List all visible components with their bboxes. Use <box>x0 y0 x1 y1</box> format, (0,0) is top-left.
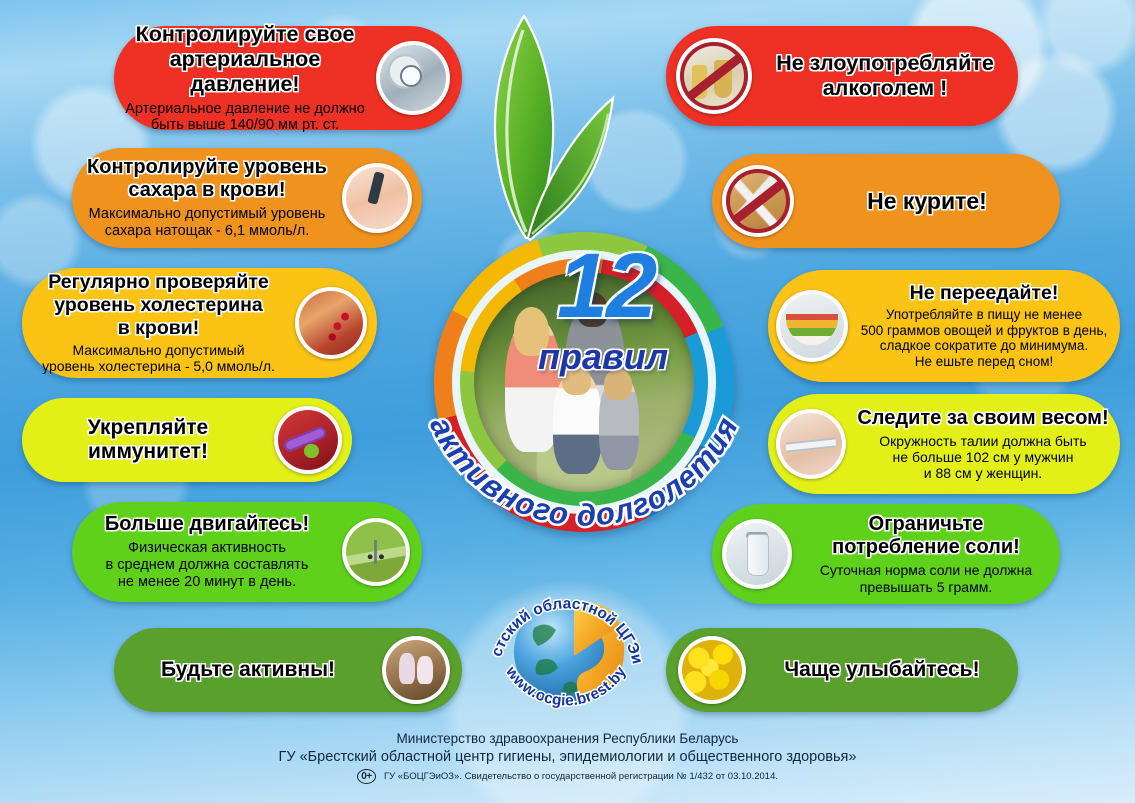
panel-subtitle-line: Суточная норма соли не должна <box>800 562 1052 578</box>
panel-be-active[interactable]: Будьте активны! <box>114 628 462 712</box>
svg-text:активного долголетия: активного долголетия <box>423 411 745 533</box>
rules-count: 12 <box>557 240 655 332</box>
panel-title-line: Следите за своим весом! <box>854 407 1112 430</box>
panel-title-line: потребление соли! <box>800 536 1052 559</box>
panel-smile-more[interactable]: Чаще улыбайтесь! <box>666 628 1018 712</box>
panel-subtitle-line: быть выше 140/90 мм рт. ст. <box>122 117 368 134</box>
panel-cholesterol[interactable]: Регулярно проверяйте уровень холестерина… <box>22 268 377 378</box>
panel-subtitle-line: Окружность талии должна быть <box>854 433 1112 449</box>
panel-text: Регулярно проверяйте уровень холестерина… <box>22 267 295 378</box>
panel-subtitle-line: Артериальное давление не должно <box>122 101 368 118</box>
panel-title-line: Не злоупотребляйте <box>760 51 1010 76</box>
panel-subtitle-line: Максимально допустимый <box>30 342 287 358</box>
panel-text: Укрепляйте иммунитет! <box>22 412 274 469</box>
panel-no-smoking[interactable]: Не курите! <box>712 154 1060 248</box>
panel-subtitle-line: уровень холестерина - 5,0 ммоль/л. <box>30 358 287 374</box>
glucometer-icon <box>342 163 412 233</box>
smiley-faces-icon <box>678 636 746 704</box>
panel-text: Больше двигайтесь! Физическая активность… <box>72 509 342 595</box>
footer-registration-row: 0+ ГУ «БОЦГЭиОЗ». Свидетельство о госуда… <box>0 769 1135 784</box>
panel-title-line: Контролируйте свое <box>122 22 368 47</box>
panel-title-line: Больше двигайтесь! <box>80 513 334 536</box>
panel-subtitle-line: 500 граммов овощей и фруктов в день, <box>856 323 1112 339</box>
panel-subtitle-line: Не ешьте перед сном! <box>856 354 1112 370</box>
panel-title-line: алкоголем ! <box>760 76 1010 101</box>
no-smoking-icon <box>722 165 794 237</box>
panel-text: Ограничьте потребление соли! Суточная но… <box>792 509 1060 599</box>
blood-cells-virus-icon <box>274 406 342 474</box>
panel-title-line: артериальное давление! <box>122 47 368 97</box>
panel-blood-sugar[interactable]: Контролируйте уровень сахара в крови! Ма… <box>72 148 422 248</box>
panel-title-line: Укрепляйте иммунитет! <box>30 416 266 465</box>
panel-text: Контролируйте уровень сахара в крови! Ма… <box>72 152 342 244</box>
footer-institution-line: ГУ «Брестский областной центр гигиены, э… <box>0 749 1135 765</box>
footer-ministry-line: Министерство здравоохранения Республики … <box>0 731 1135 746</box>
cholesterol-artery-icon <box>295 287 367 359</box>
panel-subtitle-line: Употребляйте в пищу не менее <box>856 307 1112 323</box>
no-alcohol-icon <box>676 38 752 114</box>
panel-immunity[interactable]: Укрепляйте иммунитет! <box>22 398 352 482</box>
panel-text: Не курите! <box>794 184 1060 219</box>
panel-title-line: уровень холестерина <box>30 294 287 317</box>
panel-dont-overeat[interactable]: Не переедайте! Употребляйте в пищу не ме… <box>768 270 1120 382</box>
panel-subtitle-line: не больше 102 см у мужчин <box>854 449 1112 465</box>
panel-title-line: Будьте активны! <box>122 658 374 682</box>
panel-subtitle-line: Физическая активность <box>80 540 334 557</box>
panel-text: Не злоупотребляйте алкоголем ! <box>752 47 1018 105</box>
panel-move-more[interactable]: Больше двигайтесь! Физическая активность… <box>72 502 422 602</box>
panel-limit-salt[interactable]: Ограничьте потребление соли! Суточная но… <box>712 504 1060 604</box>
blood-pressure-monitor-icon <box>376 41 450 115</box>
panel-watch-weight[interactable]: Следите за своим весом! Окружность талии… <box>768 394 1120 494</box>
panel-title-line: Контролируйте уровень <box>80 156 334 179</box>
panel-subtitle-line: в среднем должна составлять <box>80 557 334 574</box>
panel-text: Чаще улыбайтесь! <box>746 654 1018 686</box>
waist-measuring-tape-icon <box>776 409 846 479</box>
panel-no-alcohol[interactable]: Не злоупотребляйте алкоголем ! <box>666 26 1018 126</box>
organization-logo[interactable]: Брестский областной ЦГЭиОЗ www.ocgie.bre… <box>478 556 654 732</box>
green-leaf-sprout-icon <box>466 6 636 256</box>
panel-subtitle-line: сахара натощак - 6,1 ммоль/л. <box>80 223 334 240</box>
panel-subtitle-line: и 88 см у женщин. <box>854 465 1112 481</box>
panel-title-line: Регулярно проверяйте <box>30 271 287 294</box>
panel-subtitle-line: превышать 5 грамм. <box>800 579 1052 595</box>
center-emblem: 12 правил активного долголетия <box>434 232 734 532</box>
panel-text: Не переедайте! Употребляйте в пищу не ме… <box>848 278 1120 373</box>
panel-title-line: Не курите! <box>802 188 1052 215</box>
panel-title-line: в крови! <box>30 317 287 340</box>
footer: Министерство здравоохранения Республики … <box>0 731 1135 784</box>
panel-text: Следите за своим весом! Окружность талии… <box>846 403 1120 486</box>
arc-text-label: активного долголетия <box>423 411 745 533</box>
panel-text: Контролируйте свое артериальное давление… <box>114 18 376 138</box>
panel-title-line: Ограничьте <box>800 513 1052 536</box>
footer-registration-line: ГУ «БОЦГЭиОЗ». Свидетельство о государст… <box>384 771 778 782</box>
vegetable-salad-icon <box>776 290 848 362</box>
dancing-seniors-icon <box>382 636 450 704</box>
panel-subtitle-line: не менее 20 минут в день. <box>80 574 334 591</box>
panel-subtitle-line: Максимально допустимый уровень <box>80 206 334 223</box>
cyclists-icon <box>342 518 410 586</box>
panel-title-line: Не переедайте! <box>856 282 1112 305</box>
panel-blood-pressure[interactable]: Контролируйте свое артериальное давление… <box>114 26 462 130</box>
panel-title-line: Чаще улыбайтесь! <box>754 658 1010 682</box>
poster-canvas: Контролируйте свое артериальное давление… <box>0 0 1135 803</box>
panel-subtitle-line: сладкое сократите до минимума. <box>856 338 1112 354</box>
panel-text: Будьте активны! <box>114 654 382 686</box>
panel-title-line: сахара в крови! <box>80 179 334 202</box>
age-rating-badge: 0+ <box>357 769 376 784</box>
